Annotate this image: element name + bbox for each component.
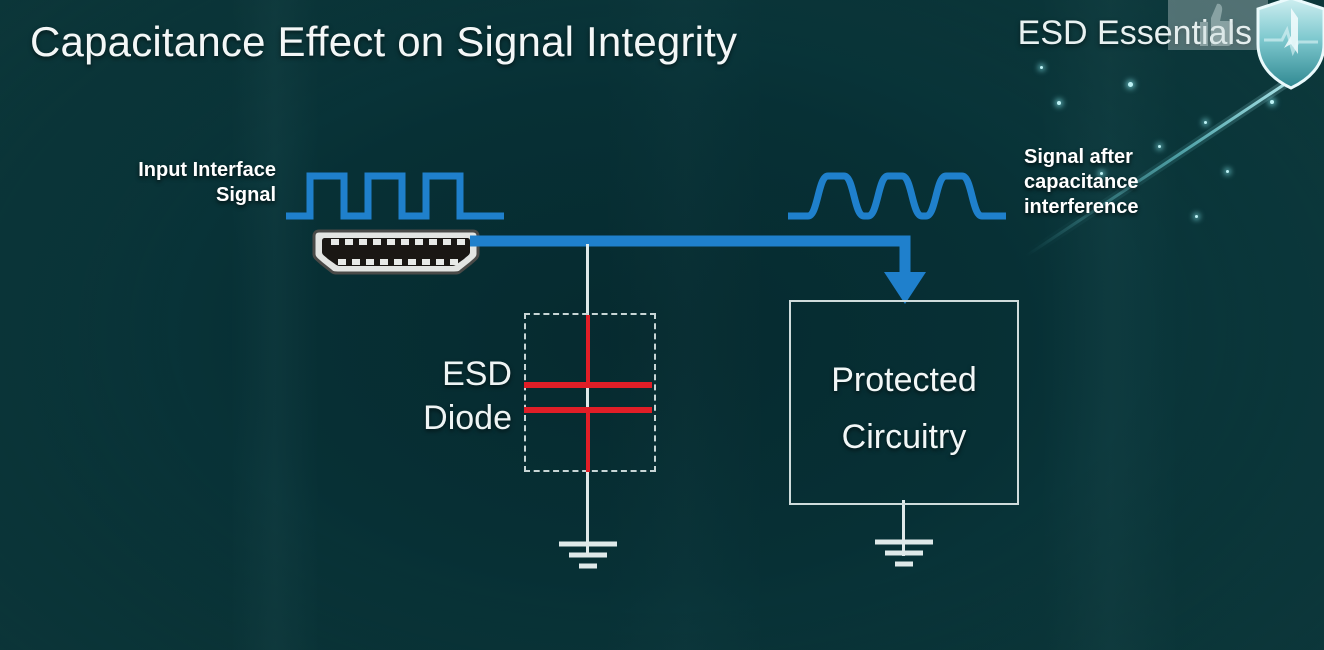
input-signal-label: Input Interface Signal bbox=[86, 158, 276, 208]
esd-diode-label-line1: ESD bbox=[380, 352, 512, 396]
thumbs-up-icon[interactable] bbox=[1186, 2, 1238, 48]
output-waveform-rounded bbox=[788, 168, 1010, 224]
ground-icon bbox=[548, 536, 628, 576]
capacitor-lead-top bbox=[586, 315, 590, 387]
page-title: Capacitance Effect on Signal Integrity bbox=[30, 18, 737, 66]
output-signal-label-line1: Signal after bbox=[1024, 145, 1234, 170]
protected-circuitry-label-line2: Circuitry bbox=[789, 409, 1019, 466]
input-signal-label-line1: Input Interface bbox=[86, 158, 276, 183]
bg-streak bbox=[1040, 0, 1180, 650]
esd-diode-label: ESD Diode bbox=[380, 352, 512, 440]
bg-streak bbox=[230, 0, 320, 650]
output-signal-label-line3: interference bbox=[1024, 195, 1234, 220]
particle-decoration bbox=[1040, 66, 1043, 69]
bg-vignette bbox=[0, 0, 1324, 650]
output-signal-label-line2: capacitance bbox=[1024, 170, 1234, 195]
particle-decoration bbox=[1057, 101, 1061, 105]
slide-canvas: Capacitance Effect on Signal Integrity E… bbox=[0, 0, 1324, 650]
protected-circuitry-label: Protected Circuitry bbox=[789, 352, 1019, 466]
capacitor-plate-top bbox=[524, 382, 652, 388]
protected-circuitry-label-line1: Protected bbox=[789, 352, 1019, 409]
esd-region-dashed-box bbox=[524, 313, 656, 472]
particle-decoration bbox=[1128, 82, 1133, 87]
particle-decoration bbox=[1270, 100, 1274, 104]
shield-pulse-icon bbox=[1254, 0, 1324, 92]
input-waveform-square bbox=[286, 168, 508, 224]
particle-decoration bbox=[1204, 121, 1207, 124]
ground-icon bbox=[864, 534, 944, 574]
input-signal-label-line2: Signal bbox=[86, 183, 276, 208]
esd-diode-label-line2: Diode bbox=[380, 396, 512, 440]
output-signal-label: Signal after capacitance interference bbox=[1024, 145, 1234, 220]
capacitor-lead-bottom bbox=[586, 410, 590, 472]
